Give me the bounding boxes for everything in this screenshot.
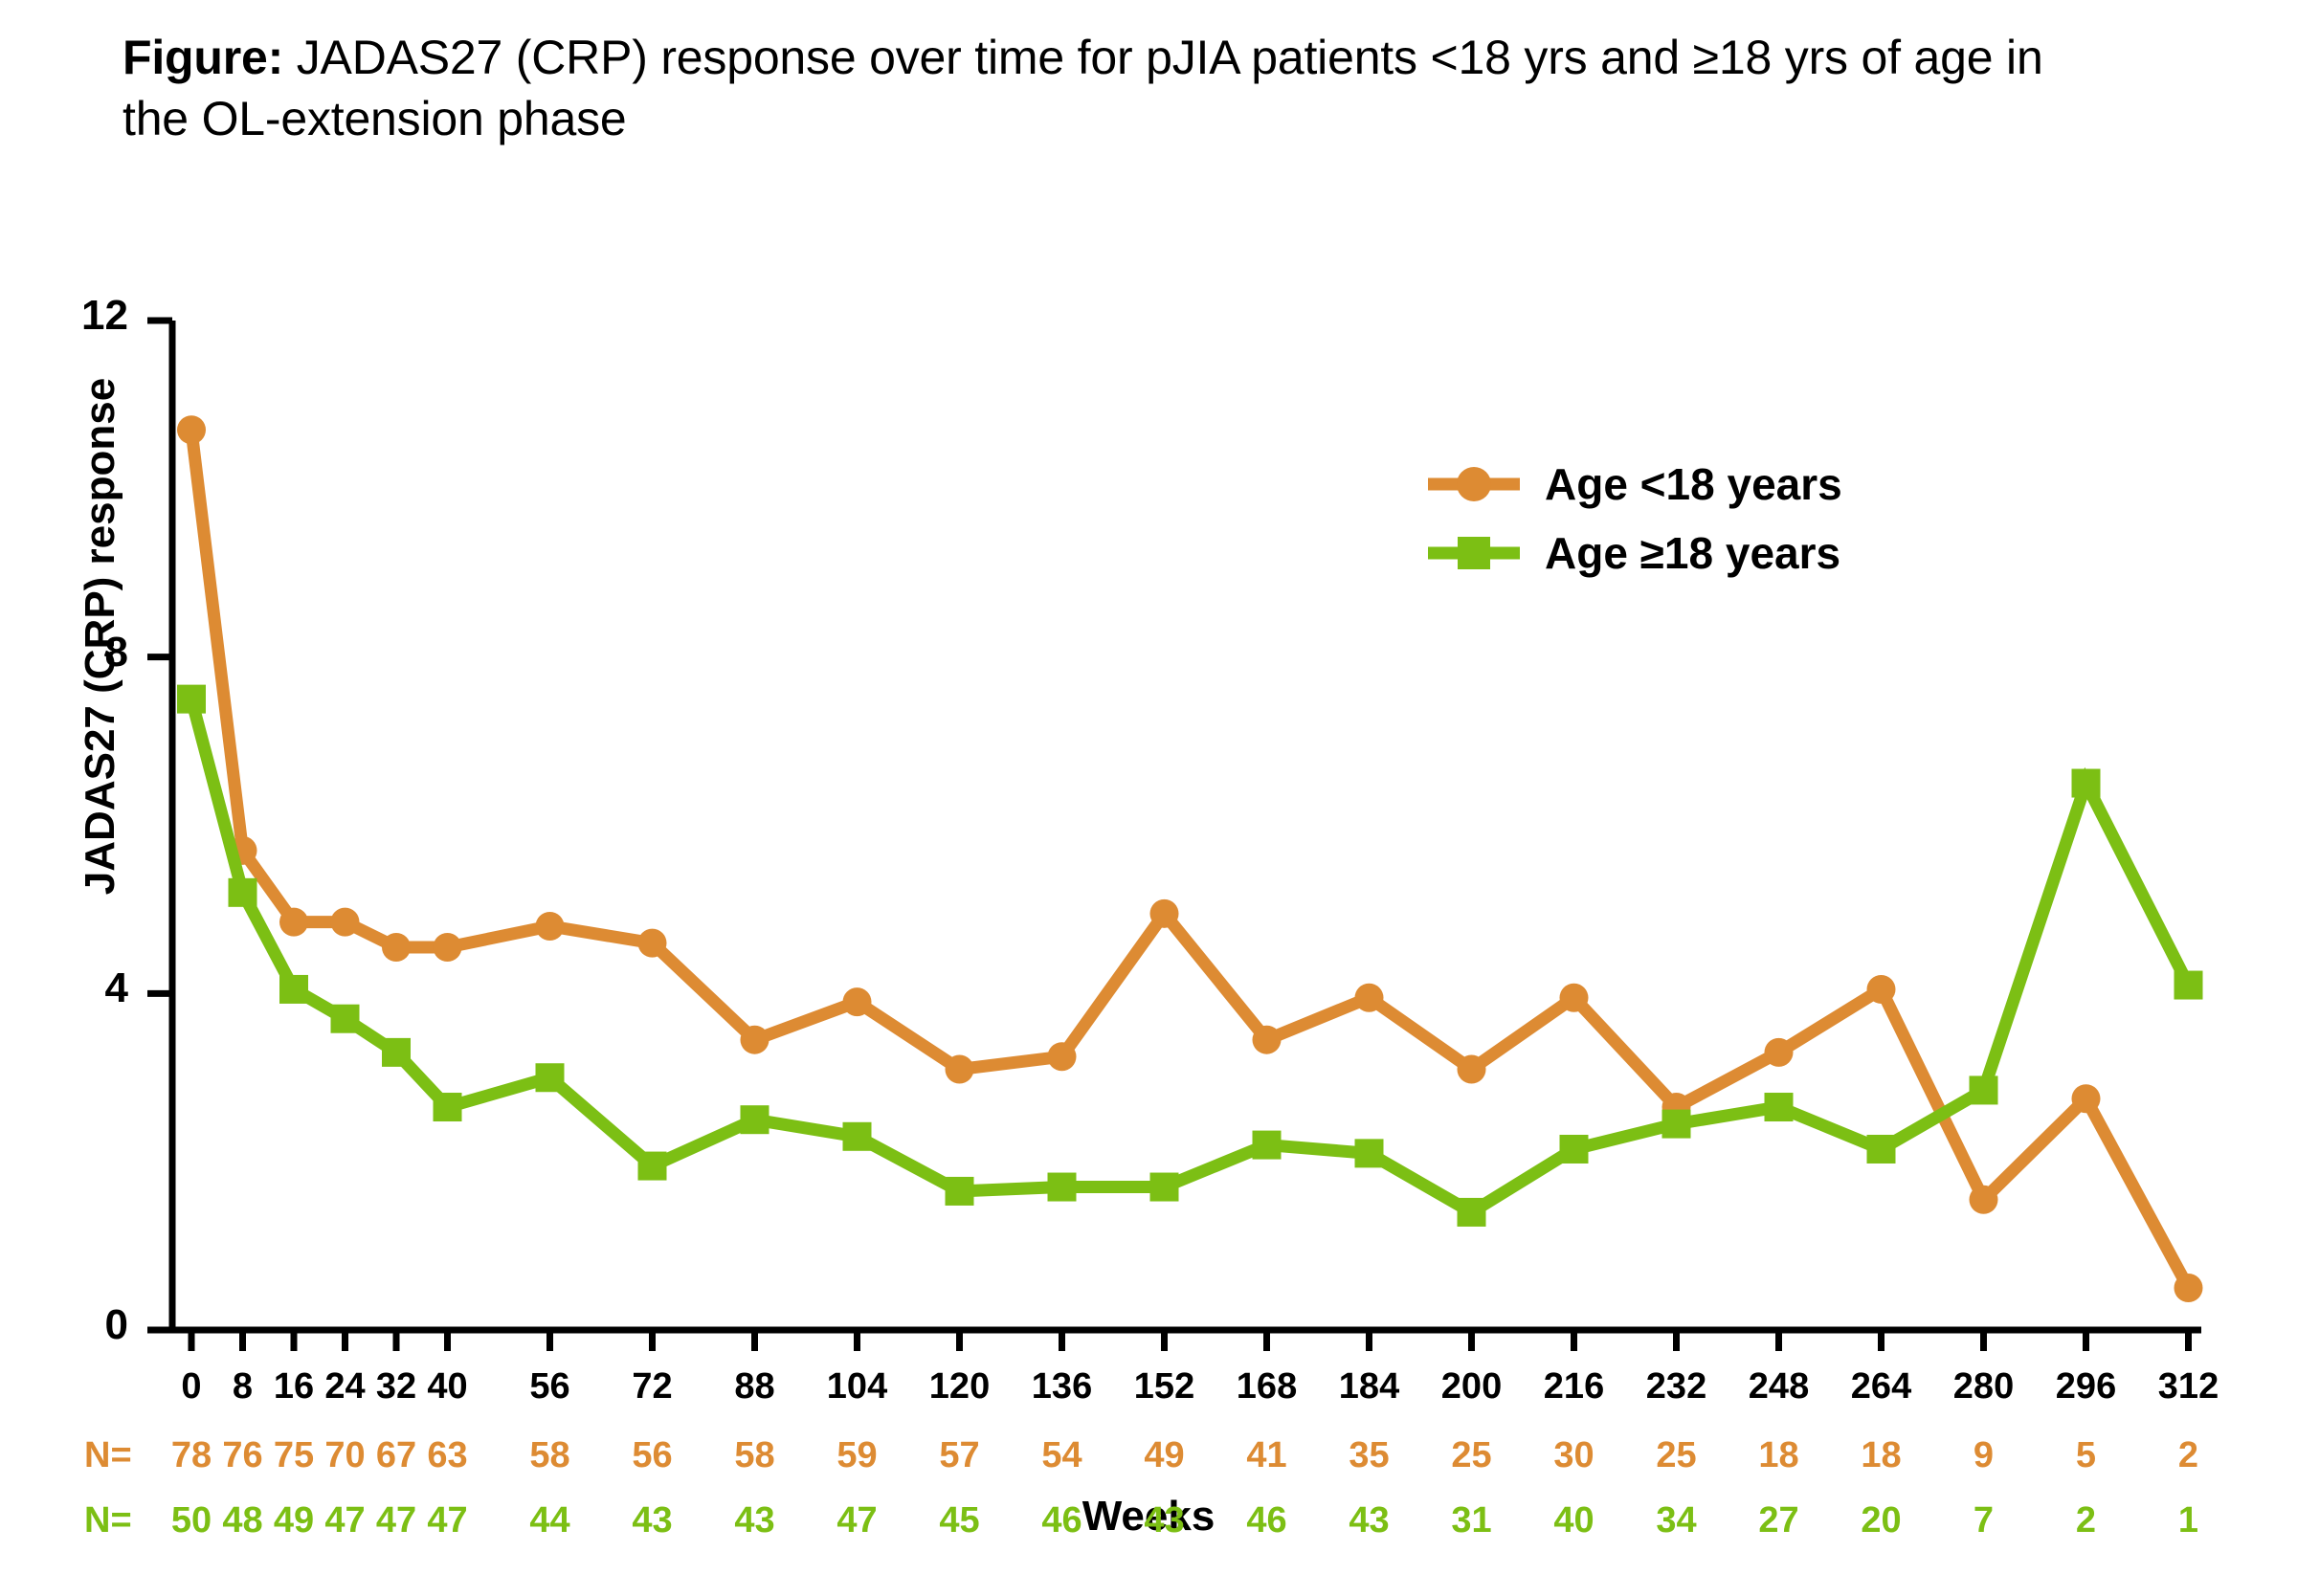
data-point bbox=[1867, 975, 1896, 1004]
legend-item-age-under-18[interactable]: Age <18 years bbox=[1426, 450, 1924, 519]
chart-legend: Age <18 years Age ≥18 years bbox=[1426, 450, 1924, 587]
n-row-age-18-plus-value: 43 bbox=[1144, 1500, 1184, 1541]
n-row-age-18-plus-value: 7 bbox=[1974, 1500, 1994, 1541]
y-tick-label: 8 bbox=[13, 629, 128, 676]
n-row-age-18-plus-value: 27 bbox=[1758, 1500, 1798, 1541]
n-row-age-under-18-value: 59 bbox=[836, 1435, 877, 1476]
data-point bbox=[536, 1063, 565, 1092]
n-row-age-under-18-value: 75 bbox=[274, 1435, 314, 1476]
n-row-age-under-18-value: 67 bbox=[376, 1435, 416, 1476]
data-point bbox=[331, 908, 360, 937]
chart-svg bbox=[0, 0, 2297, 1596]
data-point bbox=[2072, 769, 2101, 798]
n-row-age-under-18-value: 41 bbox=[1246, 1435, 1286, 1476]
legend-swatch-square-icon bbox=[1426, 519, 1522, 587]
n-row-age-under-18-value: 25 bbox=[1656, 1435, 1696, 1476]
data-point bbox=[946, 1177, 974, 1206]
data-point bbox=[177, 685, 206, 714]
x-tick-label: 56 bbox=[529, 1366, 569, 1408]
data-point bbox=[1458, 1054, 1486, 1083]
y-tick-label: 12 bbox=[13, 292, 128, 340]
n-row-age-18-plus-value: 44 bbox=[529, 1500, 569, 1541]
n-row-age-18-plus-value: 34 bbox=[1656, 1500, 1696, 1541]
data-point bbox=[1458, 1198, 1486, 1227]
data-point bbox=[1970, 1075, 1998, 1104]
x-tick-label: 72 bbox=[632, 1366, 672, 1408]
n-row-age-under-18-value: 58 bbox=[529, 1435, 569, 1476]
n-row-age-under-18-value: 57 bbox=[939, 1435, 979, 1476]
n-row-age-under-18-value: 25 bbox=[1451, 1435, 1491, 1476]
x-tick-label: 0 bbox=[181, 1366, 201, 1408]
n-row-age-18-plus-value: 47 bbox=[836, 1500, 877, 1541]
legend-swatch-circle-icon bbox=[1426, 450, 1522, 519]
data-point bbox=[1970, 1186, 1998, 1214]
n-row-age-18-plus-value: 47 bbox=[324, 1500, 365, 1541]
n-row-age-under-18-value: 76 bbox=[222, 1435, 262, 1476]
data-point bbox=[434, 1093, 462, 1121]
figure-root: Figure: JADAS27 (CRP) response over time… bbox=[0, 0, 2297, 1596]
data-point bbox=[741, 1026, 769, 1054]
data-point bbox=[1253, 1131, 1282, 1160]
data-point bbox=[382, 1038, 411, 1067]
n-row-age-under-18-value: 70 bbox=[324, 1435, 365, 1476]
n-row-age-18-plus-value: 20 bbox=[1861, 1500, 1901, 1541]
n-row-age-18-plus-value: 50 bbox=[171, 1500, 212, 1541]
n-row-age-18-plus-value: 31 bbox=[1451, 1500, 1491, 1541]
x-tick-label: 232 bbox=[1646, 1366, 1706, 1408]
data-point bbox=[638, 1152, 667, 1181]
x-tick-label: 136 bbox=[1032, 1366, 1092, 1408]
x-tick-label: 216 bbox=[1544, 1366, 1604, 1408]
data-point bbox=[382, 933, 411, 962]
n-row-age-under-18-value: 30 bbox=[1553, 1435, 1594, 1476]
data-point bbox=[1765, 1038, 1794, 1067]
chart-plot-area: JADAS27 (CRP) response Weeks 04812 08162… bbox=[0, 0, 2297, 1596]
x-tick-label: 168 bbox=[1237, 1366, 1297, 1408]
n-row-age-under-18-value: 18 bbox=[1861, 1435, 1901, 1476]
x-tick-label: 24 bbox=[324, 1366, 365, 1408]
legend-label-age-18-plus: Age ≥18 years bbox=[1545, 527, 1840, 579]
x-tick-label: 88 bbox=[734, 1366, 774, 1408]
x-tick-label: 8 bbox=[233, 1366, 253, 1408]
data-point bbox=[1560, 984, 1589, 1012]
n-row-age-under-18-value: 56 bbox=[632, 1435, 672, 1476]
data-point bbox=[1765, 1093, 1794, 1121]
legend-item-age-18-plus[interactable]: Age ≥18 years bbox=[1426, 519, 1924, 587]
x-tick-label: 312 bbox=[2158, 1366, 2219, 1408]
data-point bbox=[2072, 1084, 2101, 1113]
n-row-age-under-18-value: 18 bbox=[1758, 1435, 1798, 1476]
data-point bbox=[1662, 1110, 1691, 1139]
x-tick-label: 120 bbox=[929, 1366, 990, 1408]
n-row-age-under-18-value: 35 bbox=[1349, 1435, 1389, 1476]
data-point bbox=[1048, 1042, 1077, 1071]
data-point bbox=[279, 975, 308, 1004]
n-row-age-under-18-value: 63 bbox=[427, 1435, 467, 1476]
data-point bbox=[177, 415, 206, 444]
n-row-age-under-18-value: 78 bbox=[171, 1435, 212, 1476]
y-tick-label: 0 bbox=[13, 1301, 128, 1349]
data-point bbox=[1355, 1139, 1384, 1167]
n-row-age-18-plus-value: 1 bbox=[2178, 1500, 2198, 1541]
legend-label-age-under-18: Age <18 years bbox=[1545, 458, 1842, 510]
x-tick-label: 40 bbox=[427, 1366, 467, 1408]
data-point bbox=[843, 987, 872, 1016]
x-tick-label: 280 bbox=[1953, 1366, 2014, 1408]
n-row-age-18-plus-value: 47 bbox=[427, 1500, 467, 1541]
n-row-age-18-plus-value: 43 bbox=[1349, 1500, 1389, 1541]
n-row-age-under-18-value: 5 bbox=[2076, 1435, 2096, 1476]
n-row-age-under-18-label: N= bbox=[84, 1435, 132, 1476]
n-row-age-18-plus-value: 43 bbox=[734, 1500, 774, 1541]
n-row-age-under-18-value: 2 bbox=[2178, 1435, 2198, 1476]
data-point bbox=[2174, 1274, 2203, 1302]
n-row-age-18-plus-value: 40 bbox=[1553, 1500, 1594, 1541]
x-tick-label: 248 bbox=[1749, 1366, 1809, 1408]
n-row-age-18-plus-value: 45 bbox=[939, 1500, 979, 1541]
data-point bbox=[1150, 899, 1179, 928]
x-tick-label: 152 bbox=[1134, 1366, 1194, 1408]
data-point bbox=[2174, 971, 2203, 1000]
data-point bbox=[946, 1054, 974, 1083]
data-point bbox=[1048, 1173, 1077, 1202]
x-tick-label: 32 bbox=[376, 1366, 416, 1408]
n-row-age-under-18-value: 9 bbox=[1974, 1435, 1994, 1476]
n-row-age-18-plus-value: 48 bbox=[222, 1500, 262, 1541]
data-point bbox=[741, 1105, 769, 1134]
data-point bbox=[434, 933, 462, 962]
n-row-age-18-plus-value: 2 bbox=[2076, 1500, 2096, 1541]
x-tick-label: 264 bbox=[1851, 1366, 1911, 1408]
n-row-age-18-plus-value: 49 bbox=[274, 1500, 314, 1541]
x-tick-label: 104 bbox=[827, 1366, 887, 1408]
x-tick-label: 296 bbox=[2056, 1366, 2116, 1408]
y-tick-label: 4 bbox=[13, 964, 128, 1012]
n-row-age-18-plus-value: 46 bbox=[1041, 1500, 1082, 1541]
data-point bbox=[1355, 984, 1384, 1012]
data-point bbox=[1867, 1135, 1896, 1164]
data-point bbox=[638, 929, 667, 958]
n-row-age-18-plus-value: 47 bbox=[376, 1500, 416, 1541]
x-tick-label: 184 bbox=[1339, 1366, 1399, 1408]
x-tick-label: 200 bbox=[1441, 1366, 1502, 1408]
n-row-age-18-plus-label: N= bbox=[84, 1500, 132, 1541]
data-point bbox=[536, 912, 565, 941]
n-row-age-under-18-value: 58 bbox=[734, 1435, 774, 1476]
data-point bbox=[1150, 1173, 1179, 1202]
data-point bbox=[331, 1005, 360, 1033]
data-point bbox=[1560, 1135, 1589, 1164]
data-point bbox=[843, 1122, 872, 1151]
x-tick-label: 16 bbox=[274, 1366, 314, 1408]
n-row-age-18-plus-value: 46 bbox=[1246, 1500, 1286, 1541]
n-row-age-under-18-value: 54 bbox=[1041, 1435, 1082, 1476]
data-point bbox=[229, 878, 257, 907]
data-point bbox=[1253, 1026, 1282, 1054]
n-row-age-18-plus-value: 43 bbox=[632, 1500, 672, 1541]
data-point bbox=[279, 908, 308, 937]
n-row-age-under-18-value: 49 bbox=[1144, 1435, 1184, 1476]
